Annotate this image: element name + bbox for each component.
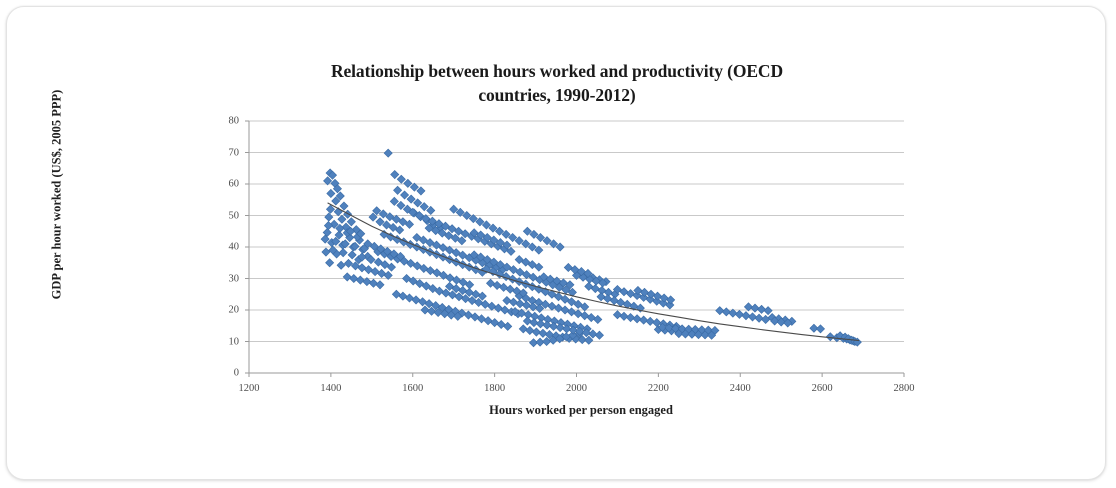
data-point <box>554 304 562 312</box>
data-point <box>420 203 428 211</box>
data-point <box>722 308 730 316</box>
data-point <box>574 310 582 318</box>
data-point <box>325 213 333 221</box>
data-point <box>536 320 544 328</box>
data-point <box>414 199 422 207</box>
data-point <box>500 283 508 291</box>
data-point <box>587 313 595 321</box>
data-point <box>597 293 605 301</box>
data-point <box>427 206 435 214</box>
data-point <box>484 317 492 325</box>
chart-card: Relationship between hours worked and pr… <box>6 6 1106 480</box>
data-point <box>378 269 386 277</box>
data-point <box>633 315 641 323</box>
data-point <box>549 322 557 330</box>
data-point <box>539 329 547 337</box>
data-point <box>523 317 531 325</box>
data-point <box>581 312 589 320</box>
data-point <box>762 315 770 323</box>
data-point <box>548 302 556 310</box>
screenshot-root: Relationship between hours worked and pr… <box>0 0 1116 488</box>
data-point <box>757 305 765 313</box>
data-point <box>397 175 405 183</box>
data-point <box>364 266 372 274</box>
plot-area-wrapper: GDP per hour worked (US$, 2005 PPP) Hour… <box>7 7 1106 480</box>
data-point <box>585 336 593 344</box>
data-point <box>481 300 489 308</box>
data-point <box>412 296 420 304</box>
data-point <box>397 201 405 209</box>
data-point <box>604 295 612 303</box>
data-point <box>646 317 654 325</box>
data-point <box>595 331 603 339</box>
data-point <box>816 325 824 333</box>
data-point <box>613 311 621 319</box>
data-point <box>326 259 334 267</box>
data-point <box>390 197 398 205</box>
data-point <box>826 333 834 341</box>
data-point <box>477 315 485 323</box>
data-point <box>764 307 772 315</box>
data-point <box>405 294 413 302</box>
data-point <box>626 313 634 321</box>
data-point <box>327 189 335 197</box>
data-point <box>526 326 534 334</box>
data-point <box>344 210 352 218</box>
data-point <box>488 302 496 310</box>
data-point <box>369 279 377 287</box>
data-point <box>755 314 763 322</box>
scatter-chart-figure: Relationship between hours worked and pr… <box>7 7 1106 480</box>
data-point <box>464 311 472 319</box>
data-point <box>418 298 426 306</box>
data-point <box>339 249 347 257</box>
data-point <box>522 301 530 309</box>
data-point <box>394 186 402 194</box>
data-point <box>742 312 750 320</box>
data-point <box>494 304 502 312</box>
data-point <box>343 273 351 281</box>
data-point <box>640 316 648 324</box>
data-point <box>519 325 527 333</box>
data-point <box>509 298 517 306</box>
data-point <box>735 310 743 318</box>
data-point <box>506 285 514 293</box>
data-point <box>425 300 433 308</box>
data-point <box>358 264 366 272</box>
data-point <box>399 292 407 300</box>
data-point <box>348 251 356 259</box>
data-point <box>338 215 346 223</box>
data-point <box>503 296 511 304</box>
data-point <box>350 274 358 282</box>
data-point <box>589 330 597 338</box>
scatter-points-group <box>321 149 861 347</box>
data-point <box>751 304 759 312</box>
data-point <box>620 312 628 320</box>
data-point <box>442 289 450 297</box>
data-point <box>497 320 505 328</box>
data-point <box>501 306 509 314</box>
data-point <box>421 306 429 314</box>
data-point <box>567 308 575 316</box>
data-point <box>337 261 345 269</box>
plot-canvas <box>7 7 1106 480</box>
data-point <box>340 202 348 210</box>
data-point <box>530 319 538 327</box>
data-point <box>653 319 661 327</box>
data-point <box>404 179 412 187</box>
data-point <box>626 290 634 298</box>
data-point <box>391 170 399 178</box>
data-point <box>594 315 602 323</box>
data-point <box>471 313 479 321</box>
data-point <box>610 296 618 304</box>
data-point <box>376 281 384 289</box>
data-point <box>417 187 425 195</box>
data-point <box>322 248 330 256</box>
data-point <box>384 149 392 157</box>
data-point <box>543 321 551 329</box>
data-point <box>407 195 415 203</box>
data-point <box>516 300 524 308</box>
data-point <box>491 319 499 327</box>
data-point <box>716 307 724 315</box>
data-point <box>617 298 625 306</box>
data-point <box>323 228 331 236</box>
data-point <box>371 267 379 275</box>
data-point <box>748 313 756 321</box>
data-point <box>392 290 400 298</box>
data-point <box>400 191 408 199</box>
data-point <box>561 306 569 314</box>
data-point <box>532 328 540 336</box>
data-point <box>356 276 364 284</box>
data-point <box>504 322 512 330</box>
data-point <box>347 218 355 226</box>
